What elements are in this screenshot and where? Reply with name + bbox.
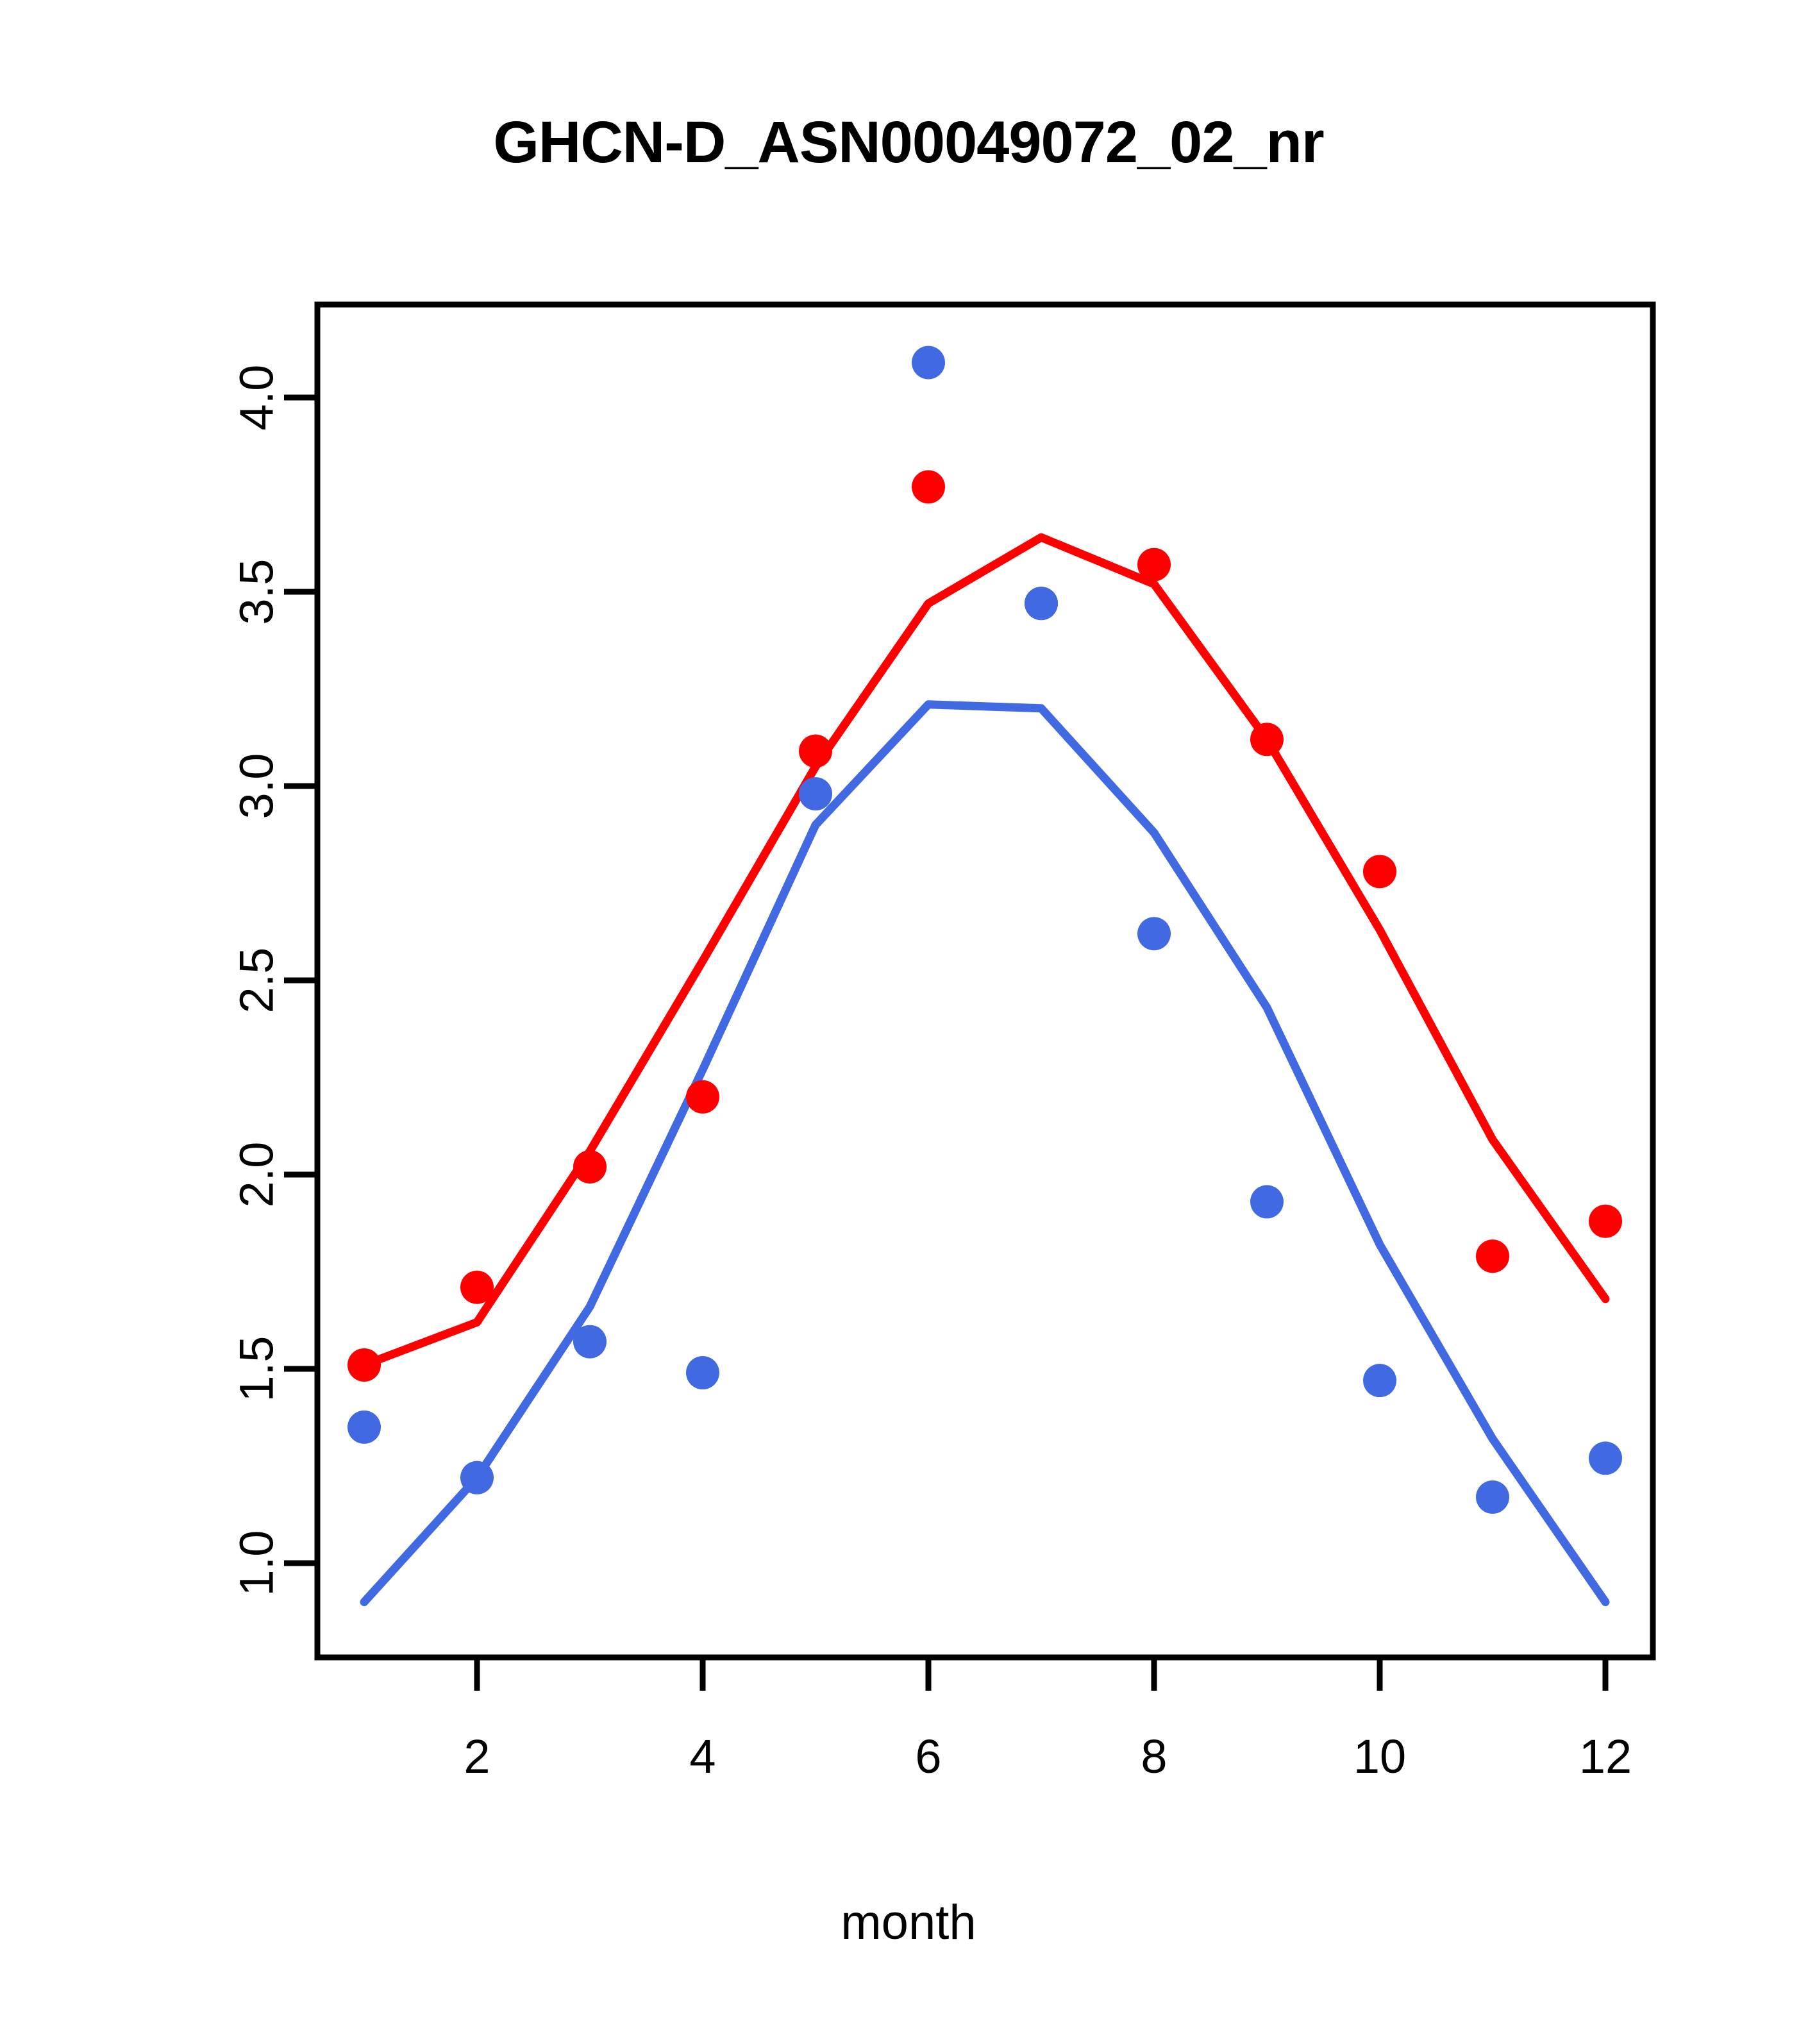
data-point-blue-points [573,1325,607,1359]
y-axis-tick-label: 1.5 [230,1336,283,1402]
data-point-blue-points [799,777,832,810]
data-point-red-points [1476,1239,1509,1273]
data-point-blue-points [460,1461,494,1495]
data-point-blue-points [1025,587,1058,620]
data-point-blue-points [1476,1480,1509,1514]
y-axis-tick-label: 3.0 [230,753,283,819]
y-axis-tick-label: 4.0 [230,365,283,431]
data-point-red-points [573,1150,607,1184]
data-point-blue-points [1250,1185,1284,1218]
data-point-blue-points [686,1356,719,1389]
data-point-blue-points [347,1411,381,1444]
data-point-blue-points [1589,1441,1622,1475]
x-axis-tick-label: 10 [1353,1730,1406,1783]
x-axis-label: month [0,1895,1817,1950]
plot-area: 1.01.52.02.53.03.54.024681012 [0,0,1817,2044]
series-line-red-line [364,537,1605,1365]
x-axis-tick-label: 6 [915,1730,941,1783]
x-axis-tick-label: 4 [689,1730,716,1783]
x-axis-tick-label: 12 [1579,1730,1632,1783]
data-point-blue-points [1137,917,1171,950]
x-axis-tick-label: 2 [464,1730,490,1783]
y-axis-tick-label: 2.5 [230,948,283,1014]
chart-page: GHCN-D_ASN00049072_02_nr 1.01.52.02.53.0… [0,0,1817,2044]
y-axis-tick-label: 2.0 [230,1142,283,1208]
y-axis-tick-label: 1.0 [230,1530,283,1596]
data-point-red-points [1250,723,1284,756]
data-point-red-points [912,470,945,503]
data-point-red-points [1363,855,1396,888]
data-point-blue-points [1363,1364,1396,1397]
data-point-red-points [799,734,832,767]
series-line-blue-line [364,705,1605,1602]
data-point-red-points [460,1271,494,1304]
data-point-red-points [1137,548,1171,582]
data-point-red-points [686,1080,719,1114]
data-point-red-points [1589,1205,1622,1238]
plot-frame [317,305,1653,1657]
y-axis-tick-label: 3.5 [230,559,283,625]
data-point-blue-points [912,346,945,379]
data-point-red-points [347,1348,381,1382]
x-axis-tick-label: 8 [1141,1730,1167,1783]
